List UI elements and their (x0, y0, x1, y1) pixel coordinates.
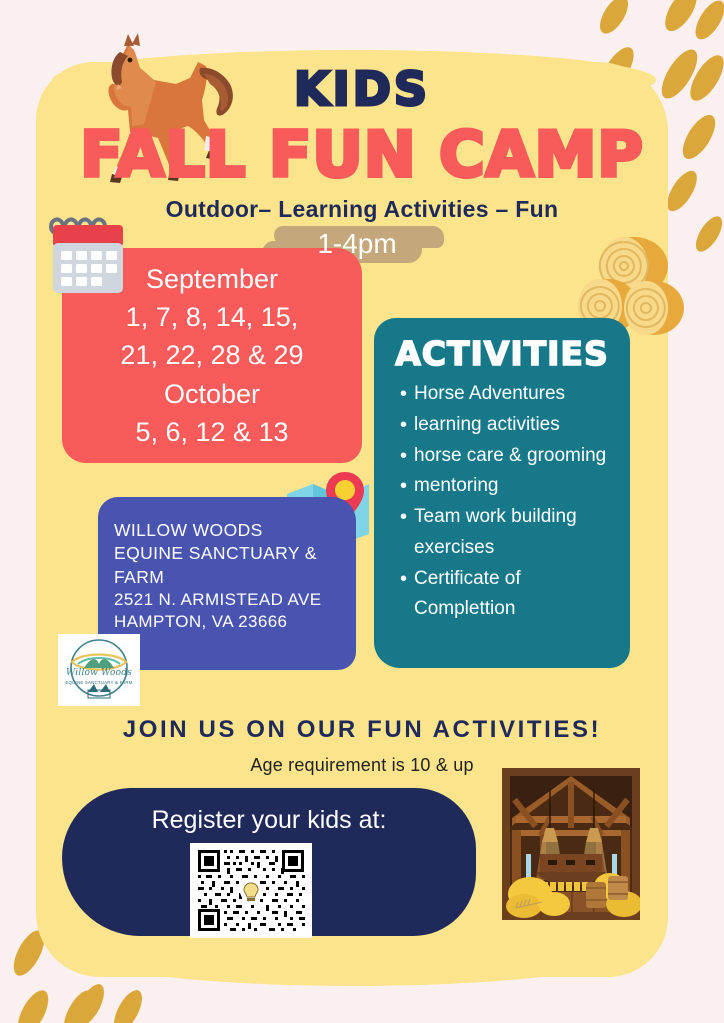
dates-month-1-days-2: 21, 22, 28 & 29 (120, 336, 303, 374)
list-item: horse care & grooming (400, 441, 620, 472)
decorative-dash (12, 986, 55, 1023)
camp-time: 1-4pm (262, 228, 452, 260)
activities-list: Horse Adventures learning activities hor… (374, 379, 630, 625)
join-us-headline: JOIN US ON OUR FUN ACTIVITIES! (0, 716, 724, 744)
decorative-dash (108, 986, 147, 1023)
list-item: mentoring (400, 471, 620, 502)
dates-month-2-days: 5, 6, 12 & 13 (135, 413, 288, 451)
logo-name: Willow Woods (58, 668, 140, 678)
dates-month-1-days-1: 1, 7, 8, 14, 15, (126, 298, 299, 336)
page-title-kids: KIDS (0, 62, 724, 116)
decorative-dash (594, 0, 633, 38)
calendar-icon (47, 213, 131, 299)
address-line-4: 2521 N. ARMISTEAD AVE (114, 589, 344, 612)
address-line-1: WILLOW WOODS (114, 519, 344, 542)
list-item: learning activities (400, 410, 620, 441)
activities-heading: ACTIVITIES (374, 334, 630, 373)
list-item: Certificate of Complettion (400, 564, 620, 626)
register-label: Register your kids at: (62, 806, 476, 835)
address-line-5: HAMPTON, VA 23666 (114, 611, 344, 634)
list-item: Horse Adventures (400, 379, 620, 410)
qr-code[interactable] (190, 843, 312, 938)
page-title-main: FALL FUN CAMP (0, 118, 724, 191)
barn-interior-photo (502, 768, 640, 920)
address-line-3: FARM (114, 566, 344, 589)
address-line-2: EQUINE SANCTUARY & (114, 542, 344, 565)
dates-month-1: September (146, 260, 278, 298)
activities-panel: ACTIVITIES Horse Adventures learning act… (374, 318, 630, 668)
logo: Willow Woods EQUINE SANCTUARY & FARM (58, 634, 140, 706)
logo-tagline: EQUINE SANCTUARY & FARM (58, 680, 140, 685)
list-item: Team work building exercises (400, 502, 620, 564)
dates-month-2: October (164, 375, 260, 413)
flyer-canvas: KIDS FALL FUN CAMP Outdoor– Learning Act… (0, 0, 724, 1023)
